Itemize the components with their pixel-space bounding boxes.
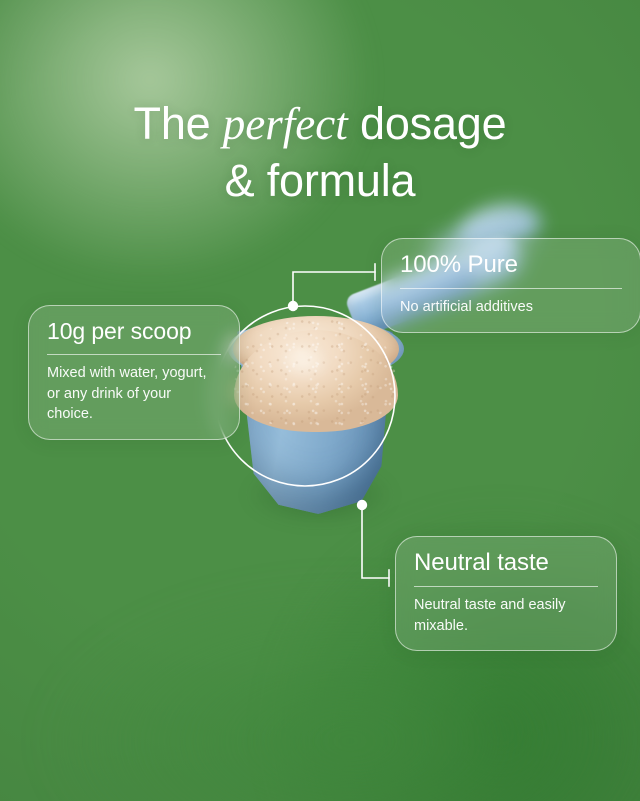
feature-card-scoop-divider [47,354,221,355]
feature-card-taste-title: Neutral taste [414,549,598,577]
connector-line-pure [293,272,375,306]
feature-card-scoop[interactable]: 10g per scoop Mixed with water, yogurt, … [28,305,240,440]
title-emphasis: perfect [223,99,348,149]
title-post: dosage [348,98,507,149]
promo-canvas: The perfect dosage & formula 100% Pure N… [0,0,640,801]
feature-card-pure-subtitle: No artificial additives [400,297,622,318]
feature-card-pure[interactable]: 100% Pure No artificial additives [381,238,640,333]
connector-dot-pure [288,301,298,311]
page-title: The perfect dosage & formula [0,96,640,209]
title-pre: The [134,98,223,149]
feature-card-taste-divider [414,586,598,587]
feature-card-pure-title: 100% Pure [400,251,622,279]
connector-dot-taste [357,500,367,510]
highlight-circle [215,306,395,486]
feature-card-pure-divider [400,288,622,289]
feature-card-taste-subtitle: Neutral taste and easily mixable. [414,595,598,636]
feature-card-scoop-title: 10g per scoop [47,318,221,345]
title-line-2: & formula [225,155,416,206]
feature-card-scoop-subtitle: Mixed with water, yogurt, or any drink o… [47,363,221,425]
connector-line-taste [362,505,389,578]
feature-card-taste[interactable]: Neutral taste Neutral taste and easily m… [395,536,617,651]
